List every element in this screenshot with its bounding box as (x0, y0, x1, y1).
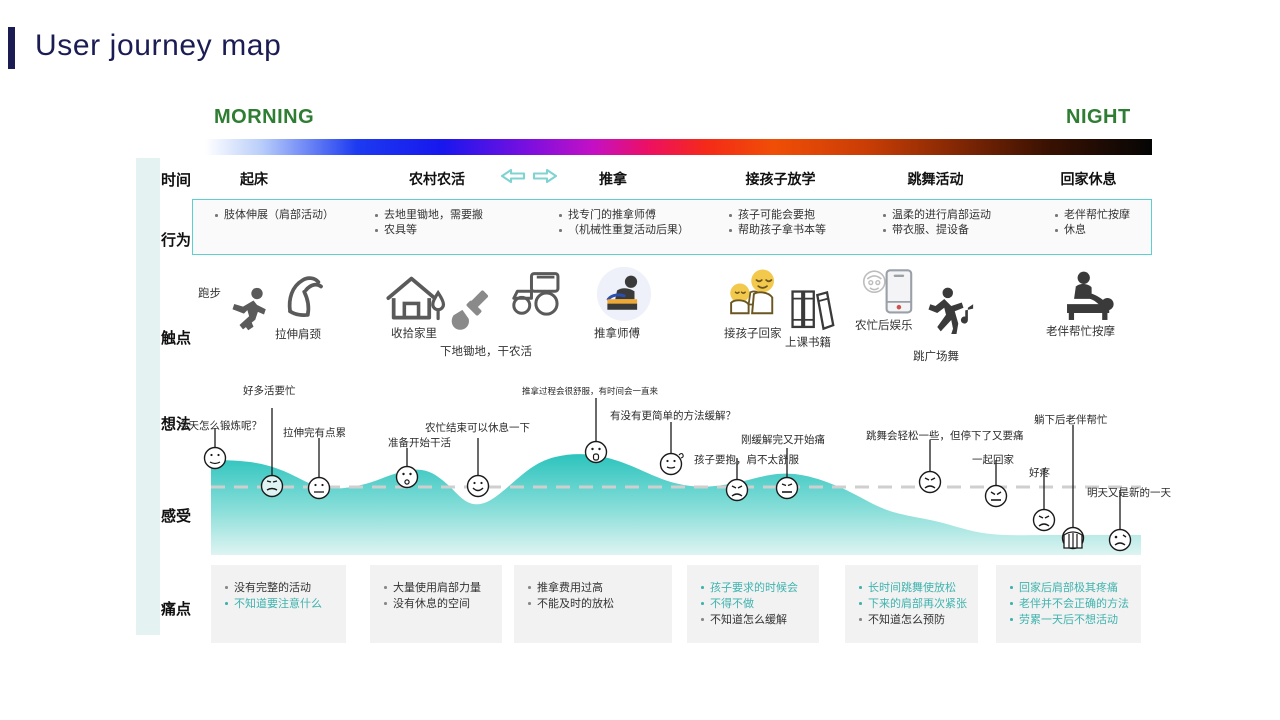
stage-name-3: 接孩子放学 (723, 169, 838, 189)
touchpoint-label-4: 推拿师傅 (594, 325, 640, 341)
thought-label-1: 好多活要忙 (243, 383, 296, 398)
touchpoint-label-0: 跑步 (198, 285, 221, 301)
thought-label-5: 推拿过程会很舒服，有时间会一直来 (522, 385, 658, 397)
painpoint-item: 不知道怎么缓解 (701, 612, 809, 628)
stage-name-4: 跳舞活动 (893, 169, 978, 189)
painpoint-item: 老伴并不会正确的方法 (1010, 596, 1131, 612)
stretch-icon (283, 272, 329, 329)
row-label-feeling: 感受 (150, 505, 202, 526)
behavior-panel: 肢体伸展（肩部活动） 去地里锄地，需要搬 农具等 找专门的推拿师傅 （机械性重复… (192, 199, 1152, 255)
behavior-item: 老伴帮忙按摩 (1055, 208, 1130, 223)
thought-label-8: 刚缓解完又开始痛 (741, 432, 825, 447)
behavior-group-5: 老伴帮忙按摩 休息 (1055, 208, 1130, 238)
thought-label-9: 跳舞会轻松一些，但停下了又要痛 (866, 428, 1024, 443)
painpoint-item: 不能及时的放松 (528, 596, 662, 612)
running-icon (222, 283, 278, 344)
thought-label-2: 拉伸完有点累 (283, 425, 346, 440)
painpoint-item: 不知道怎么预防 (859, 612, 968, 628)
behavior-group-1: 去地里锄地，需要搬 农具等 (375, 208, 483, 238)
stage-name-0: 起床 (214, 169, 294, 189)
touchpoint-label-9: 老伴帮忙按摩 (1046, 323, 1115, 339)
title-accent-bar (8, 27, 15, 69)
touchpoint-label-2: 收拾家里 (391, 325, 437, 341)
behavior-group-3: 孩子可能会要抱 帮助孩子拿书本等 (729, 208, 826, 238)
thought-label-7: 孩子要抱，肩不太舒服 (694, 452, 799, 467)
thought-label-11: 好疼 (1029, 465, 1050, 480)
touchpoint-label-7: 农忙后娱乐 (855, 317, 913, 333)
behavior-item: 帮助孩子拿书本等 (729, 223, 826, 238)
behavior-item: 带衣服、提设备 (883, 223, 991, 238)
behavior-group-4: 温柔的进行肩部运动 带衣服、提设备 (883, 208, 991, 238)
stage-transition-arrows (500, 168, 558, 184)
tractor-icon (505, 268, 565, 323)
behavior-item-cont: 农具等 (375, 223, 483, 238)
behavior-item: 休息 (1055, 223, 1130, 238)
painpoint-item: 推拿费用过高 (528, 580, 662, 596)
painpoint-card-3: 孩子要求的时候会 不得不做 不知道怎么缓解 (687, 565, 819, 643)
painpoint-item: 没有休息的空间 (384, 596, 492, 612)
morning-label: MORNING (214, 106, 314, 129)
house-cleaning-icon (383, 273, 447, 330)
behavior-item: 肢体伸展（肩部活动） (215, 208, 334, 223)
thought-label-6: 有没有更简单的方法缓解？ (610, 408, 736, 423)
touchpoint-label-1: 拉伸肩颈 (275, 326, 321, 342)
touchpoint-label-5: 接孩子回家 (724, 325, 782, 341)
behavior-item: 孩子可能会要抱 (729, 208, 826, 223)
painpoint-card-5: 回家后肩部极其疼痛 老伴并不会正确的方法 劳累一天后不想活动 (996, 565, 1141, 643)
row-label-time: 时间 (150, 169, 202, 190)
painpoint-card-4: 长时间跳舞使放松 下来的肩部再次紧张 不知道怎么预防 (845, 565, 978, 643)
painpoint-card-1: 大量使用肩部力量 没有休息的空间 (370, 565, 502, 643)
behavior-group-0: 肢体伸展（肩部活动） (215, 208, 334, 223)
dancing-icon (925, 285, 981, 346)
night-label: NIGHT (1066, 106, 1131, 129)
touchpoint-label-8: 跳广场舞 (913, 348, 959, 364)
thought-label-4: 农忙结束可以休息一下 (425, 420, 530, 435)
massage-therapist-icon (596, 266, 652, 327)
row-label-painpoint: 痛点 (150, 598, 202, 619)
painpoint-item-cont: 下来的肩部再次紧张 (859, 596, 968, 612)
thought-label-10: 一起回家 (972, 452, 1014, 467)
stage-name-5: 回家休息 (1046, 169, 1131, 189)
touchpoint-label-3: 下地锄地，干农活 (440, 343, 532, 359)
painpoint-item-cont: 不得不做 (701, 596, 809, 612)
time-gradient-bar (205, 139, 1152, 155)
behavior-item: 找专门的推拿师傅 (559, 208, 689, 223)
touchpoint-label-6: 上课书籍 (785, 334, 831, 350)
thought-label-0: 今天怎么锻炼呢？ (178, 418, 262, 433)
painpoint-item: 劳累一天后不想活动 (1010, 612, 1131, 628)
thought-label-13: 明天又是新的一天 (1087, 485, 1171, 500)
behavior-group-2: 找专门的推拿师傅 （机械性重复活动后果） (559, 208, 689, 238)
painpoint-item: 没有完整的活动 (225, 580, 336, 596)
painpoint-item: 长时间跳舞使放松 (859, 580, 968, 596)
arrow-right-icon (532, 168, 558, 184)
page-title: User journey map (35, 29, 281, 63)
painpoint-card-0: 没有完整的活动 不知道要注意什么 (211, 565, 346, 643)
painpoint-item: 回家后肩部极其疼痛 (1010, 580, 1131, 596)
stage-name-2: 推拿 (573, 169, 653, 189)
painpoint-card-2: 推拿费用过高 不能及时的放松 (514, 565, 672, 643)
behavior-item: 温柔的进行肩部运动 (883, 208, 991, 223)
thought-label-3: 准备开始干活 (388, 435, 451, 450)
parent-child-icon (722, 266, 784, 327)
books-icon (789, 286, 835, 341)
behavior-item-cont: （机械性重复活动后果） (559, 223, 689, 238)
painpoint-item: 不知道要注意什么 (225, 596, 336, 612)
stage-name-1: 农村农活 (397, 169, 477, 189)
thought-label-12: 躺下后老伴帮忙 (1034, 412, 1108, 427)
partner-massage-icon (1060, 270, 1118, 331)
shovel-icon (448, 285, 500, 338)
row-label-touchpoint: 触点 (150, 327, 202, 348)
painpoint-item: 大量使用肩部力量 (384, 580, 492, 596)
painpoint-item: 孩子要求的时候会 (701, 580, 809, 596)
arrow-left-icon (500, 168, 526, 184)
behavior-item: 去地里锄地，需要搬 (375, 208, 483, 223)
